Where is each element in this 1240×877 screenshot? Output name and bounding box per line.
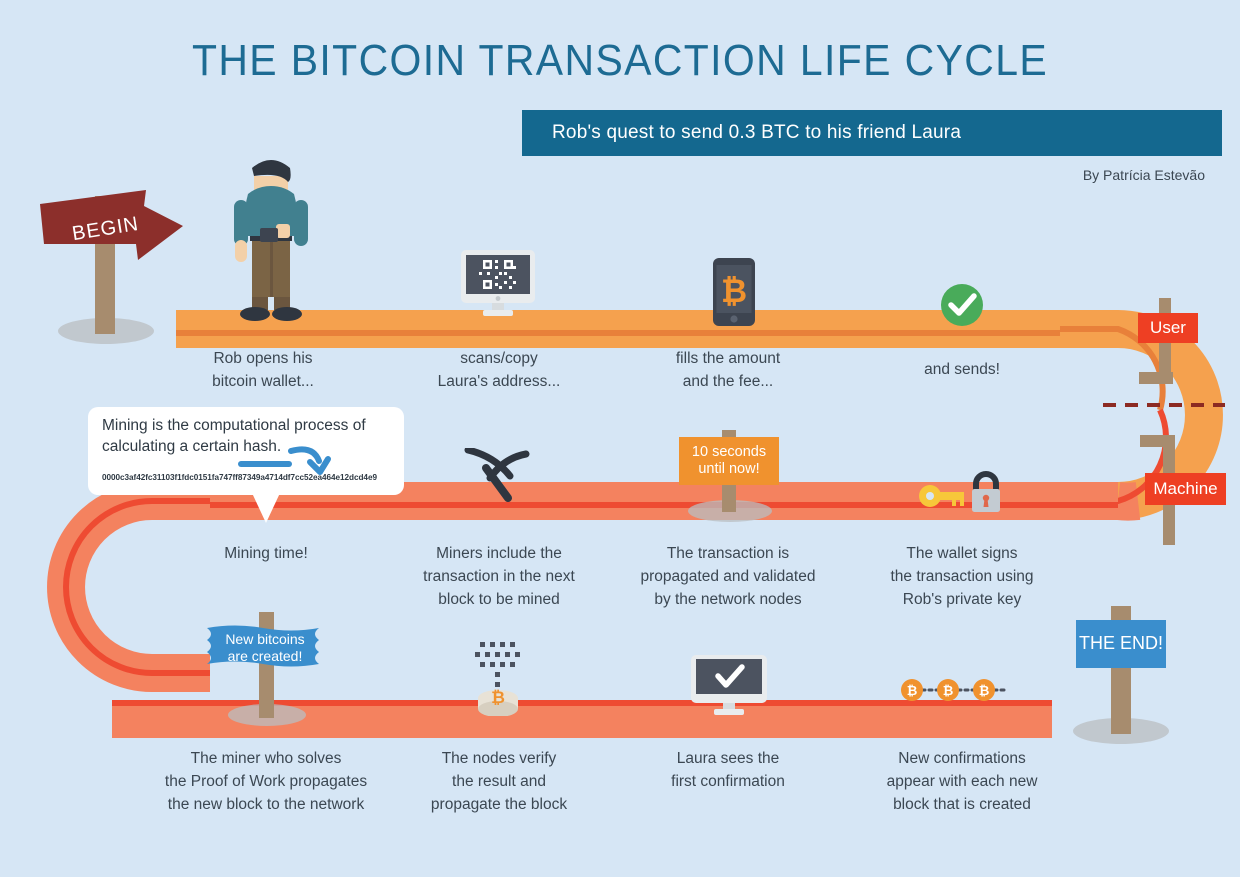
svg-text:₿: ₿	[943, 683, 954, 698]
curved-arrow-icon	[288, 442, 332, 480]
caption-fill-amount: fills the amount and the fee...	[625, 348, 831, 394]
road-curve-left	[40, 472, 270, 722]
speech-bubble-tail	[252, 493, 280, 523]
coin-chain-icon: ₿₿₿	[898, 678, 1008, 702]
caption-wallet-signs: The wallet signs the transaction using R…	[859, 543, 1065, 612]
road-centerline-row1	[176, 330, 1116, 336]
subtitle-text: Rob's quest to send 0.3 BTC to his frien…	[552, 110, 961, 156]
caption-first-conf: Laura sees the first confirmation	[625, 748, 831, 794]
person-icon	[228, 148, 314, 323]
machine-sign: Machine	[1145, 473, 1226, 505]
check-circle-icon	[940, 283, 984, 327]
caption-propagate: The transaction is propagated and valida…	[625, 543, 831, 612]
caption-open-wallet: Rob opens his bitcoin wallet...	[160, 348, 366, 394]
newcoins-sign-line1: New bitcoins	[225, 631, 304, 648]
caption-verify: The nodes verify the result and propagat…	[396, 748, 602, 817]
newcoins-sign-line2: are created!	[228, 648, 303, 665]
speech-bubble-text: Mining is the computational process of c…	[102, 416, 394, 458]
monitor-check-icon	[691, 655, 767, 715]
timer-sign-line1: 10 seconds	[692, 444, 766, 461]
user-sign-label: User	[1150, 318, 1186, 338]
caption-include: Miners include the transaction in the ne…	[396, 543, 602, 612]
speech-bubble-icon: Mining is the computational process of c…	[88, 407, 404, 495]
caption-scan-address: scans/copy Laura's address...	[396, 348, 602, 394]
caption-pow-solved: The miner who solves the Proof of Work p…	[152, 748, 380, 817]
caption-new-confs: New confirmations appear with each new b…	[859, 748, 1065, 817]
user-machine-divider	[1103, 403, 1225, 407]
nodes-coin-icon: ₿	[464, 640, 536, 716]
infographic-canvas: THE BITCOIN TRANSACTION LIFE CYCLE Rob's…	[0, 0, 1240, 877]
the-end-sign: THE END!	[1076, 620, 1166, 668]
caption-send: and sends!	[859, 359, 1065, 382]
newcoins-sign: New bitcoins are created!	[203, 626, 327, 670]
user-sign-post-foot	[1139, 372, 1173, 384]
page-title: THE BITCOIN TRANSACTION LIFE CYCLE	[43, 36, 1196, 86]
phone-bitcoin-icon: ₿	[713, 258, 755, 326]
user-sign: User	[1138, 313, 1198, 343]
the-end-sign-label: THE END!	[1079, 633, 1163, 654]
pickaxe-icon	[464, 448, 532, 510]
monitor-qr-icon	[461, 250, 535, 316]
speech-bubble-hash: 0000c3af42fc31103f1fdc0151fa747ff87349a4…	[102, 473, 400, 482]
svg-text:₿: ₿	[721, 273, 747, 309]
caption-mining: Mining time!	[163, 543, 369, 566]
svg-text:₿: ₿	[907, 683, 918, 698]
bubble-underline	[238, 461, 292, 467]
machine-sign-label: Machine	[1153, 479, 1217, 499]
key-lock-icon	[918, 470, 1006, 518]
svg-text:₿: ₿	[979, 683, 990, 698]
timer-sign: 10 seconds until now!	[679, 437, 779, 485]
svg-text:₿: ₿	[491, 688, 505, 707]
subtitle-banner: Rob's quest to send 0.3 BTC to his frien…	[522, 110, 1222, 156]
machine-sign-post-foot	[1140, 435, 1174, 447]
byline: By Patrícia Estevão	[0, 167, 1205, 183]
timer-sign-line2: until now!	[698, 461, 759, 478]
